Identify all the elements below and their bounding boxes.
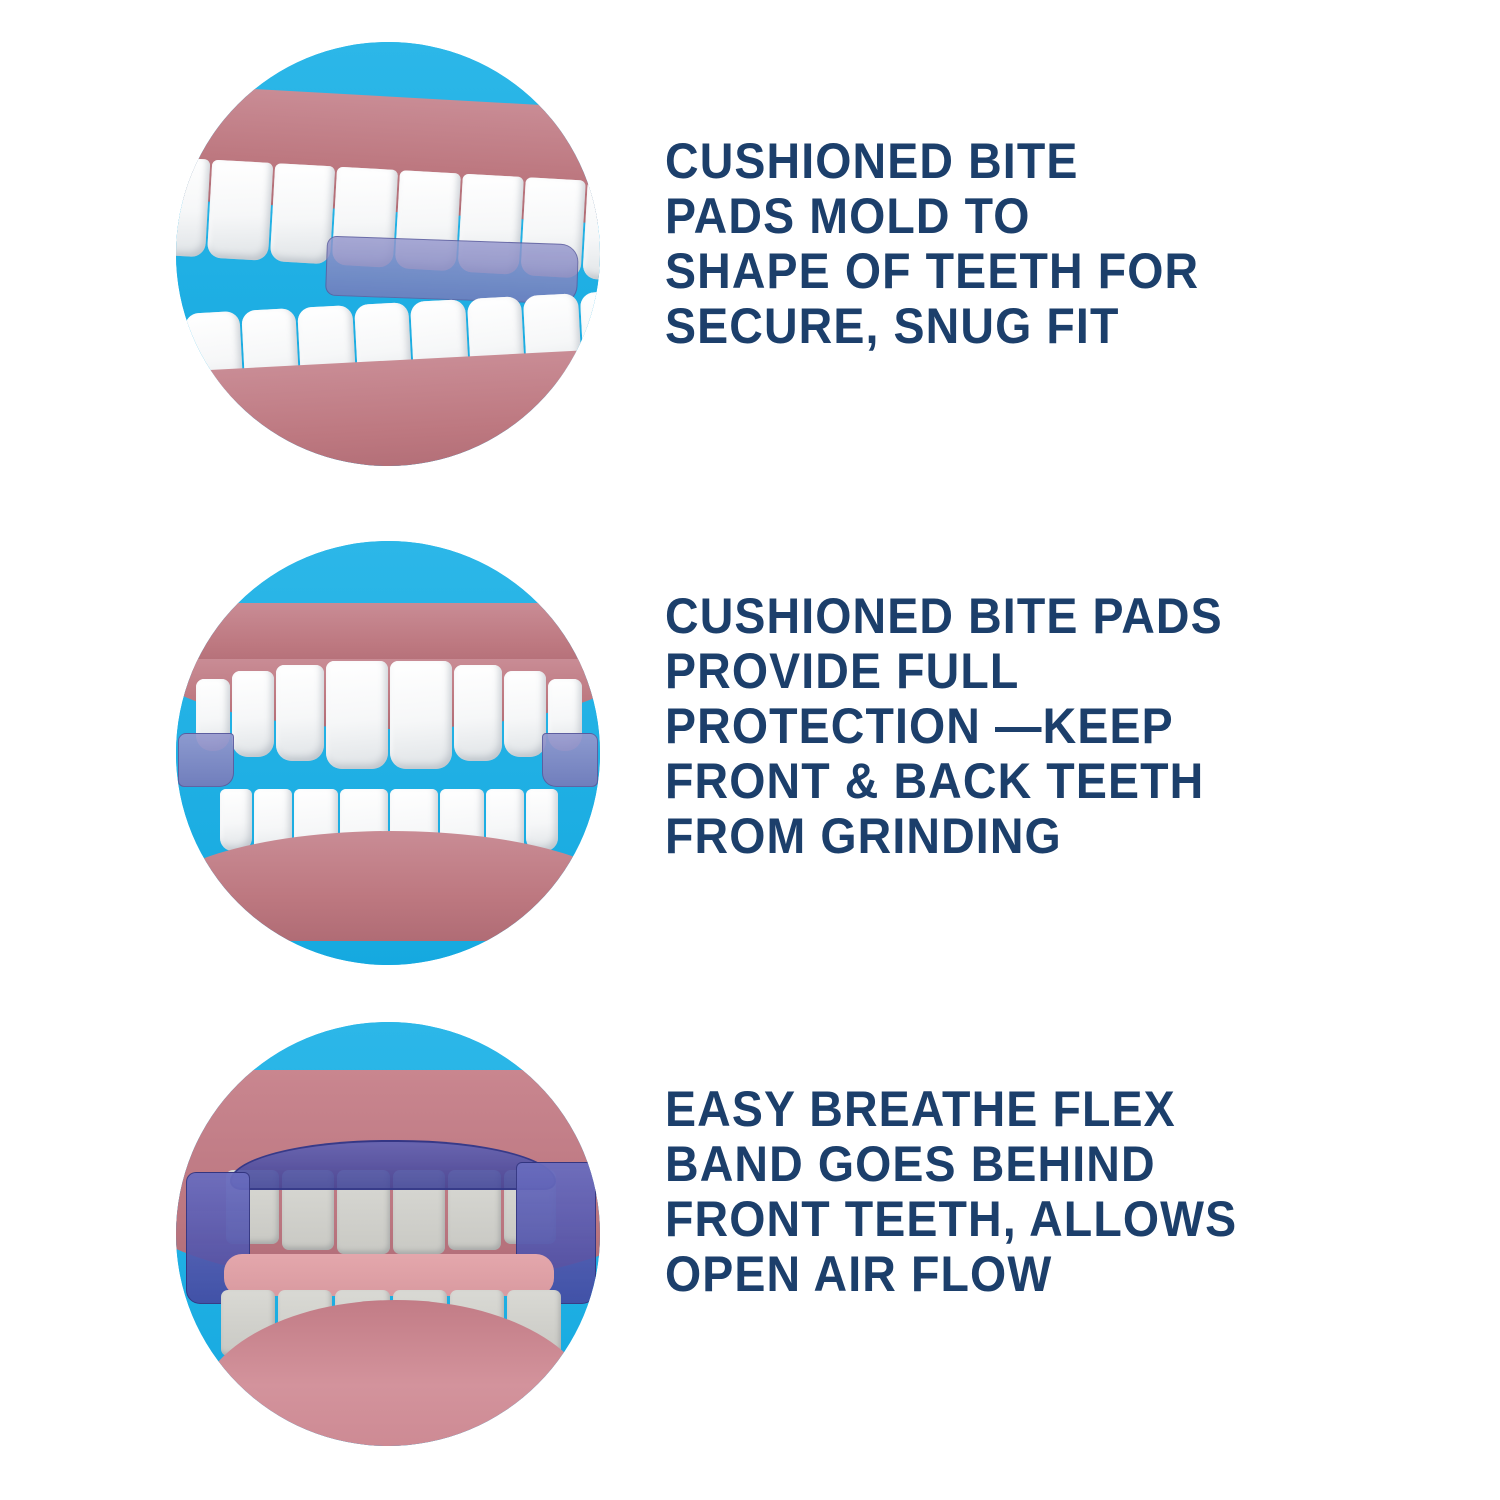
tooth xyxy=(504,671,546,757)
teeth-front-view-with-back-pads-icon xyxy=(176,541,600,965)
teeth-side-view-with-bite-pad-icon xyxy=(176,42,600,466)
tooth xyxy=(390,661,452,769)
upper-teeth-row xyxy=(186,661,591,776)
tooth xyxy=(583,181,600,282)
feature-media-3 xyxy=(0,1022,600,1452)
tooth xyxy=(207,160,273,261)
tooth xyxy=(176,156,210,257)
lower-gum xyxy=(176,831,600,941)
feature-row-cushioned-bite-pads-mold: CUSHIONED BITE PADS MOLD TO SHAPE OF TEE… xyxy=(0,42,1500,472)
tooth xyxy=(232,671,274,757)
feature-media-2 xyxy=(0,541,600,971)
tooth xyxy=(454,665,502,761)
feature-row-cushioned-bite-pads-full-protection: CUSHIONED BITE PADS PROVIDE FULL PROTECT… xyxy=(0,541,1500,971)
tooth xyxy=(220,789,252,851)
product-feature-infographic: CUSHIONED BITE PADS MOLD TO SHAPE OF TEE… xyxy=(0,0,1500,1500)
mouth-interior-with-flex-band-icon xyxy=(176,1022,600,1446)
feature-headline-cushioned-bite-pads-full-protection: CUSHIONED BITE PADS PROVIDE FULL PROTECT… xyxy=(665,589,1335,864)
feature-headline-cushioned-bite-pads-mold: CUSHIONED BITE PADS MOLD TO SHAPE OF TEE… xyxy=(665,134,1335,354)
bite-pad-left xyxy=(178,733,234,787)
feature-headline-easy-breathe-flex-band: EASY BREATHE FLEX BAND GOES BEHIND FRONT… xyxy=(665,1082,1353,1302)
tooth xyxy=(276,665,324,761)
feature-media-1 xyxy=(0,42,600,472)
tooth xyxy=(526,789,558,851)
tooth xyxy=(326,661,388,769)
tooth xyxy=(269,163,335,264)
feature-row-easy-breathe-flex-band: EASY BREATHE FLEX BAND GOES BEHIND FRONT… xyxy=(0,1022,1500,1452)
bite-pad-right xyxy=(542,733,598,787)
